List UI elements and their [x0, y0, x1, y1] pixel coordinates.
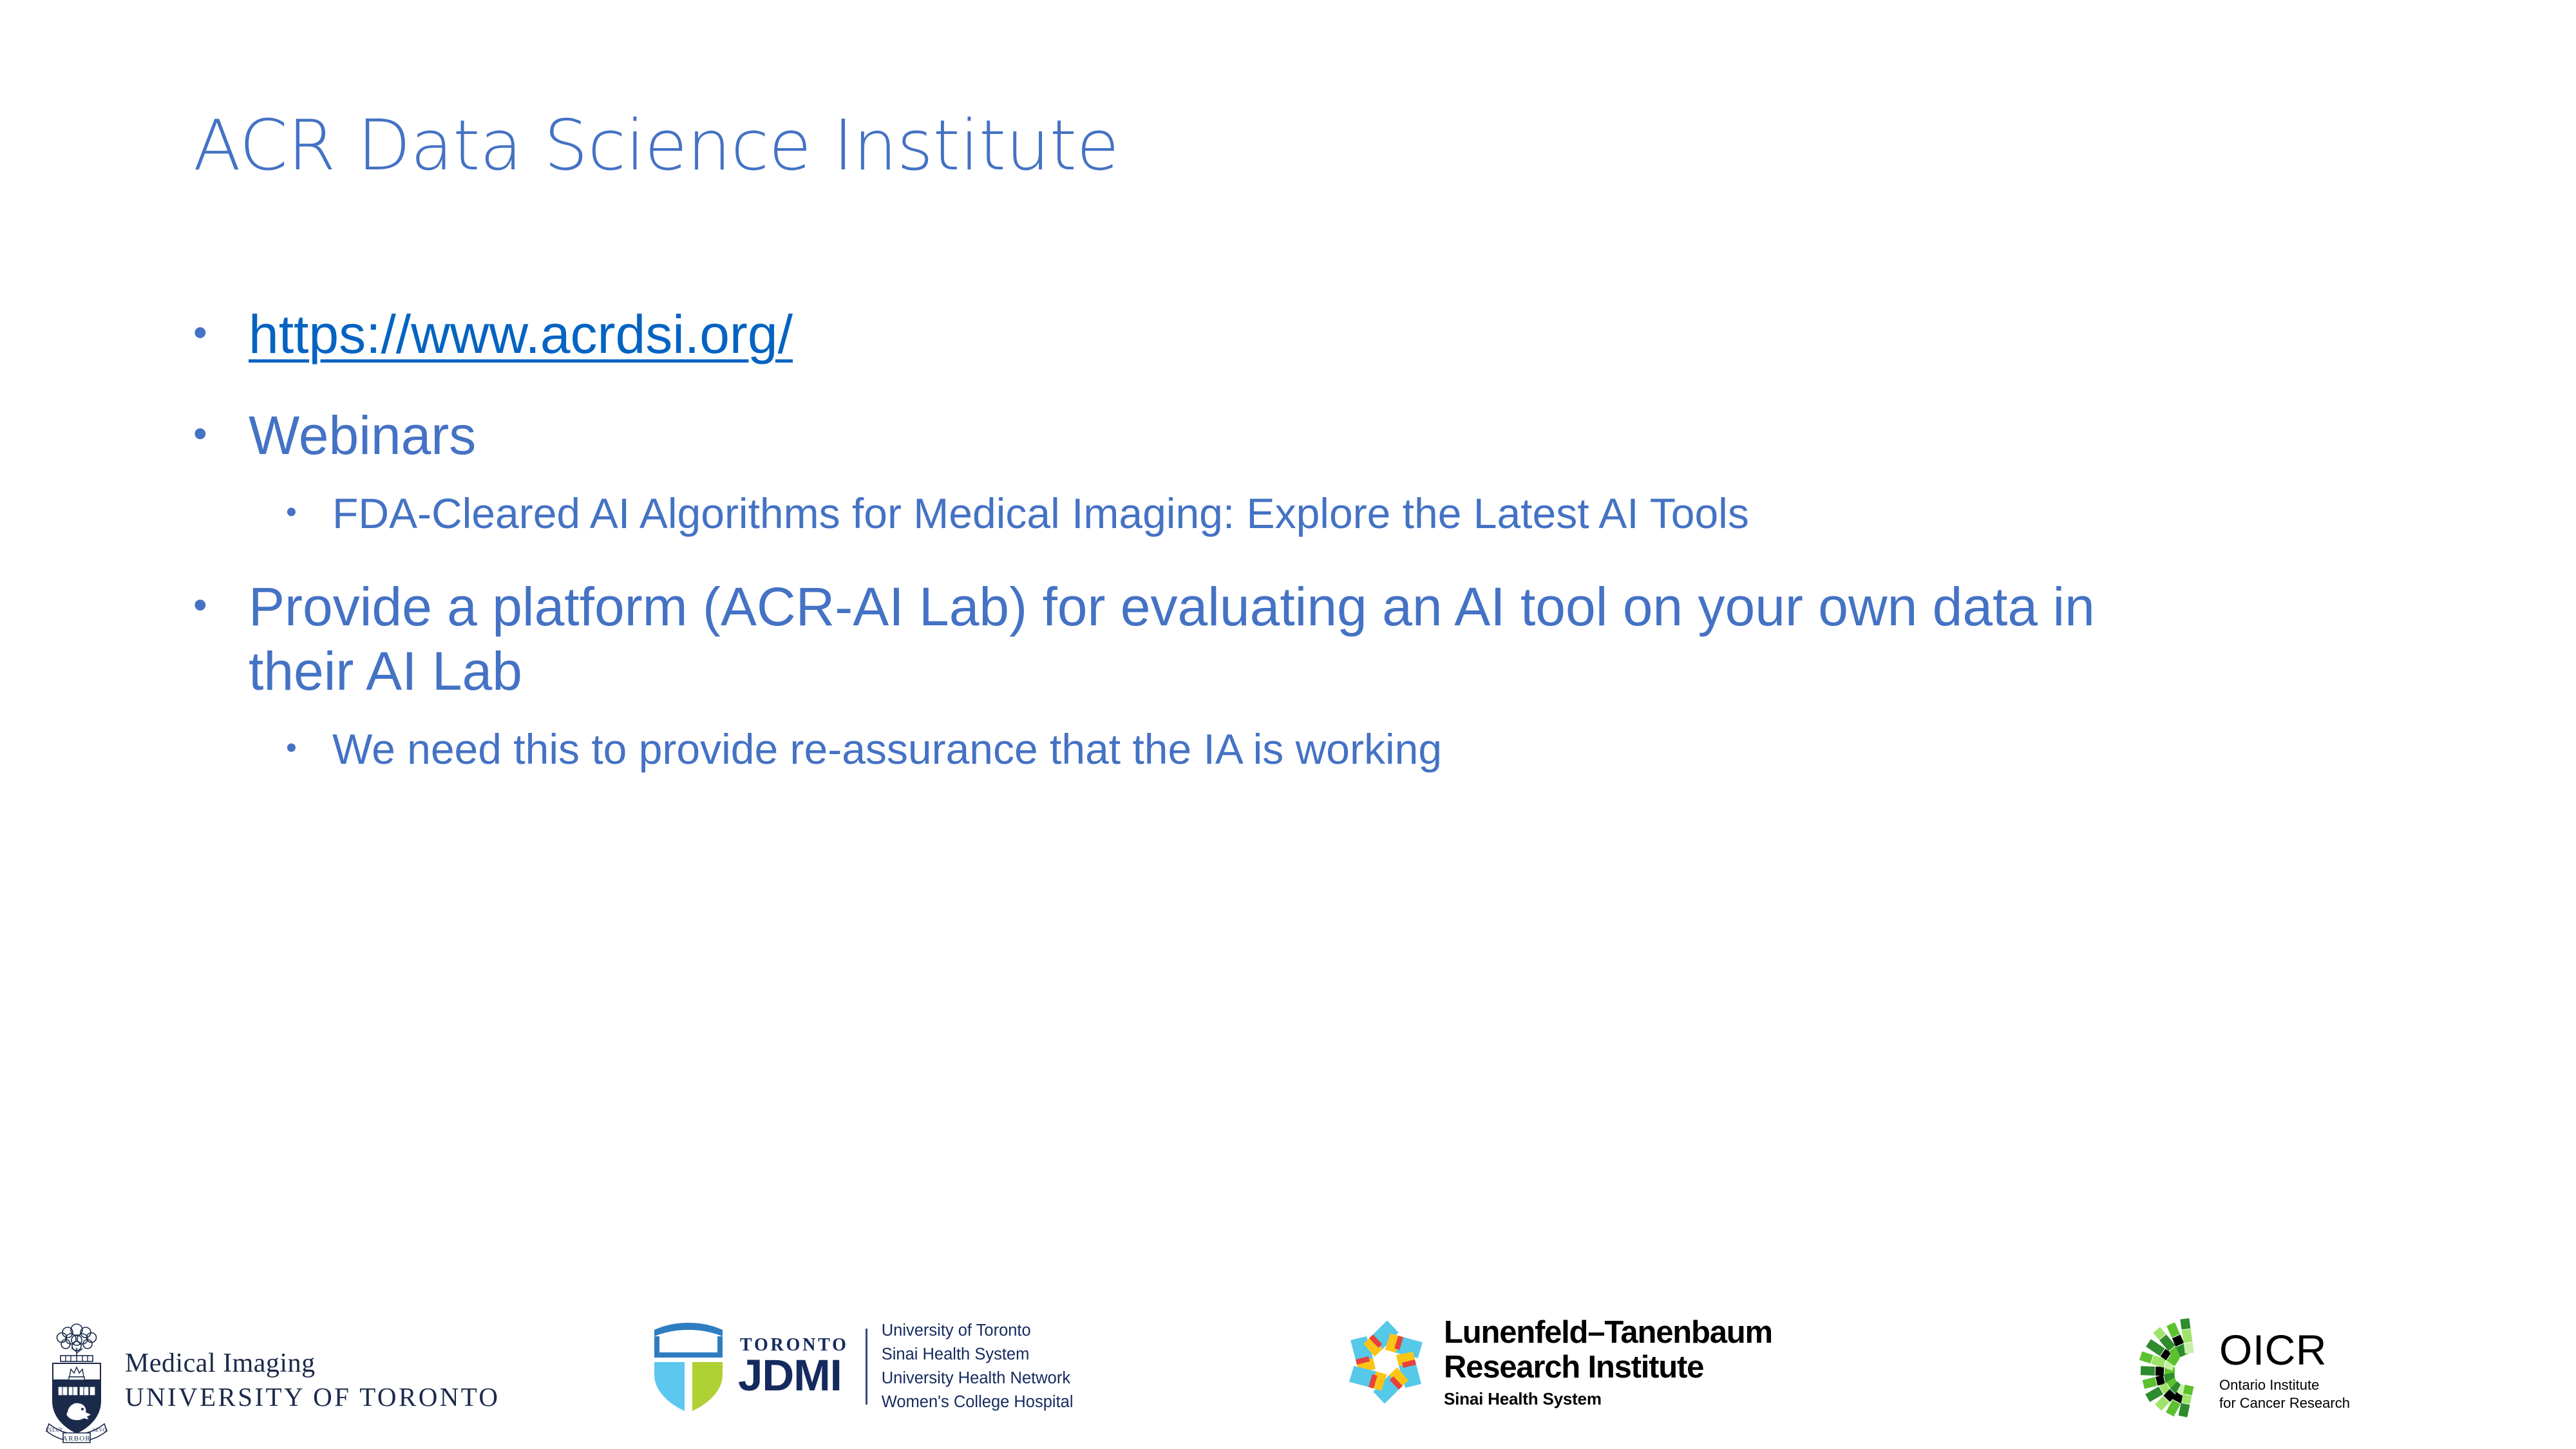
slide-canvas: ACR Data Science Institute • https://www…: [0, 0, 2576, 1449]
spacer: [188, 370, 2391, 404]
bullet-text: Provide a platform (ACR-AI Lab) for eval…: [249, 575, 2391, 703]
jdmi-affiliate-item: University Health Network: [882, 1367, 1074, 1390]
footer-logo-bar: ARBOR VELUT AEVO Medical Imaging UNIVERS…: [0, 1311, 2576, 1449]
oicr-wordmark: OICR Ontario Institute for Cancer Resear…: [2219, 1329, 2350, 1412]
svg-text:AEVO: AEVO: [92, 1427, 106, 1433]
jdmi-affiliate-list: University of Toronto Sinai Health Syste…: [882, 1319, 1074, 1415]
sub-bullet-text: We need this to provide re-assurance tha…: [332, 724, 2391, 775]
logo-oicr: OICR Ontario Institute for Cancer Resear…: [2120, 1316, 2350, 1425]
sub-bullet-item-fda-cleared: • FDA-Cleared AI Algorithms for Medical …: [282, 488, 2391, 539]
spacer: [188, 471, 2391, 488]
oicr-acronym: OICR: [2219, 1329, 2350, 1371]
jdmi-affiliate-item: Sinai Health System: [882, 1343, 1074, 1367]
jdmi-divider: [866, 1329, 867, 1405]
svg-text:VELUT: VELUT: [46, 1427, 62, 1433]
ltri-wordmark: Lunenfeld–Tanenbaum Research Institute S…: [1444, 1317, 1772, 1407]
uoft-line-medical-imaging: Medical Imaging: [125, 1350, 500, 1377]
logo-uoft-medical-imaging: ARBOR VELUT AEVO Medical Imaging UNIVERS…: [39, 1316, 500, 1444]
sub-bullet-text: FDA-Cleared AI Algorithms for Medical Im…: [332, 488, 2391, 539]
bullet-marker-icon: •: [282, 488, 332, 537]
uoft-wordmark: Medical Imaging UNIVERSITY OF TORONTO: [125, 1350, 500, 1410]
uoft-line-university: UNIVERSITY OF TORONTO: [125, 1384, 500, 1410]
jdmi-affiliate-item: Women's College Hospital: [882, 1390, 1074, 1414]
jdmi-affiliate-item: University of Toronto: [882, 1319, 1074, 1343]
uoft-shield-icon: ARBOR VELUT AEVO: [39, 1316, 115, 1444]
bullet-marker-icon: •: [188, 303, 249, 363]
jdmi-wordmark: TORONTO JDMI: [738, 1337, 849, 1396]
bullet-marker-icon: •: [282, 724, 332, 773]
svg-text:ARBOR: ARBOR: [62, 1435, 91, 1443]
bullet-item-provide-platform: • Provide a platform (ACR-AI Lab) for ev…: [188, 575, 2391, 703]
slide-title: ACR Data Science Institute: [193, 108, 2318, 185]
bullet-text-wrapper: https://www.acrdsi.org/: [249, 303, 2391, 366]
bullet-item-webinars: • Webinars: [188, 404, 2391, 468]
ltri-burst-icon: [1341, 1317, 1431, 1407]
logo-toronto-jdmi: TORONTO JDMI University of Toronto Sinai…: [650, 1318, 1074, 1415]
logo-lunenfeld-tanenbaum: Lunenfeld–Tanenbaum Research Institute S…: [1341, 1317, 1772, 1407]
oicr-burst-icon: [2120, 1316, 2223, 1425]
bullet-marker-icon: •: [188, 575, 249, 636]
bullet-text: Webinars: [249, 404, 2391, 468]
spacer: [188, 707, 2391, 724]
bullet-marker-icon: •: [188, 404, 249, 464]
bullet-item-link: • https://www.acrdsi.org/: [188, 303, 2391, 366]
oicr-tagline-line-2: for Cancer Research: [2219, 1394, 2350, 1412]
ltri-line-2: Research Institute: [1444, 1352, 1772, 1383]
spacer: [188, 542, 2391, 575]
jdmi-acronym: JDMI: [738, 1355, 849, 1396]
acrdsi-link[interactable]: https://www.acrdsi.org/: [249, 304, 793, 365]
slide-body: • https://www.acrdsi.org/ • Webinars • F…: [188, 303, 2391, 777]
ltri-line-1: Lunenfeld–Tanenbaum: [1444, 1317, 1772, 1349]
ltri-line-3-sinai: Sinai Health System: [1444, 1390, 1772, 1407]
sub-bullet-item-re-assurance: • We need this to provide re-assurance t…: [282, 724, 2391, 775]
jdmi-shield-icon: [650, 1318, 726, 1415]
oicr-tagline: Ontario Institute for Cancer Research: [2219, 1376, 2350, 1412]
oicr-tagline-line-1: Ontario Institute: [2219, 1376, 2350, 1394]
